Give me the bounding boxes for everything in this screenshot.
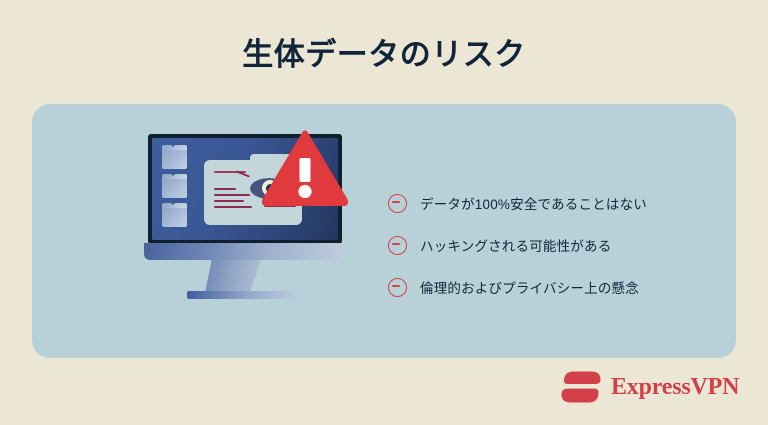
- illustration-monitor-warning: [110, 130, 395, 335]
- list-item-label: ハッキングされる可能性がある: [420, 235, 611, 255]
- minus-circle-icon: [388, 278, 407, 297]
- risk-bullet-list: データが100%安全であることはない ハッキングされる可能性がある 倫理的および…: [388, 182, 718, 308]
- list-item: ハッキングされる可能性がある: [388, 224, 718, 266]
- folder-icon: [162, 149, 187, 169]
- warning-triangle-icon: [262, 130, 348, 206]
- document-text-line: [214, 194, 250, 196]
- minus-circle-icon: [388, 236, 407, 255]
- document-text-line: [214, 188, 236, 190]
- document-text-line: [214, 206, 252, 208]
- list-item: 倫理的およびプライバシー上の懸念: [388, 266, 718, 308]
- monitor-stand-base: [187, 291, 297, 299]
- list-item: データが100%安全であることはない: [388, 182, 718, 224]
- monitor-stand-neck: [205, 260, 261, 293]
- expressvpn-logo: ExpressVPN: [560, 370, 739, 404]
- expressvpn-wordmark: ExpressVPN: [611, 375, 739, 399]
- list-item-label: 倫理的およびプライバシー上の懸念: [420, 277, 639, 297]
- monitor-bottom-bezel: [144, 243, 346, 260]
- folder-icon: [162, 207, 187, 227]
- page-title: 生体データのリスク: [0, 36, 768, 73]
- expressvpn-mark-icon: [560, 370, 602, 404]
- slide-canvas: 生体データのリスク: [0, 0, 768, 425]
- minus-circle-icon: [388, 194, 407, 213]
- content-card: データが100%安全であることはない ハッキングされる可能性がある 倫理的および…: [32, 104, 736, 358]
- folder-list: [162, 149, 187, 227]
- list-item-label: データが100%安全であることはない: [420, 193, 647, 213]
- document-text-line: [214, 200, 244, 202]
- folder-icon: [162, 178, 187, 198]
